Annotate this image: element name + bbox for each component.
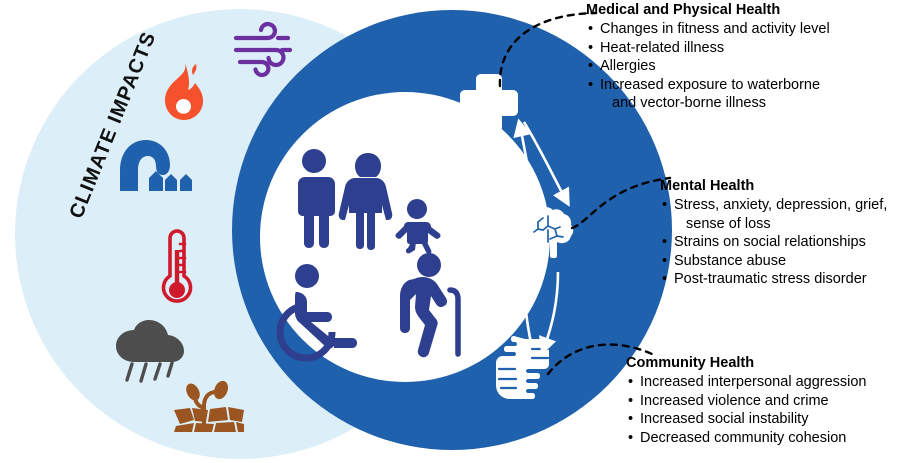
bullet-list: Stress, anxiety, depression, grief, sens…: [660, 196, 920, 289]
bullet-item-continuation: and vector-borne illness: [586, 94, 916, 113]
wind-icon: [232, 26, 294, 74]
leader-line-medical: [484, 2, 602, 88]
child-icon: [396, 198, 442, 254]
block-title: Community Health: [626, 355, 920, 372]
adult-woman-icon: [340, 152, 396, 250]
bullet-item-continuation: sense of loss: [660, 215, 920, 234]
wheelchair-user-icon: [270, 262, 366, 354]
block-title: Mental Health: [660, 178, 920, 195]
bullet-item: Increased exposure to waterborne: [586, 76, 916, 95]
block-mental-health: Mental Health Stress, anxiety, depressio…: [660, 178, 920, 289]
block-title: Medical and Physical Health: [586, 2, 916, 19]
bullet-item: Strains on social relationships: [660, 233, 920, 252]
bullet-item: Increased social instability: [626, 410, 920, 429]
bullet-item: Decreased community cohesion: [626, 429, 920, 448]
block-community-health: Community Health Increased interpersonal…: [626, 355, 920, 447]
bullet-item: Allergies: [586, 57, 916, 76]
bullet-list: Changes in fitness and activity level He…: [586, 20, 916, 113]
bullet-item: Post-traumatic stress disorder: [660, 270, 920, 289]
bullet-item: Substance abuse: [660, 252, 920, 271]
wildfire-icon: [160, 62, 206, 122]
bullet-list: Increased interpersonal aggression Incre…: [626, 373, 920, 447]
bullet-item: Heat-related illness: [586, 39, 916, 58]
flood-wave-icon: [116, 136, 196, 196]
bullet-item: Changes in fitness and activity level: [586, 20, 916, 39]
adult-man-icon: [288, 148, 340, 248]
drought-cracked-earth-icon: [168, 372, 248, 434]
bullet-item: Increased interpersonal aggression: [626, 373, 920, 392]
elderly-person-cane-icon: [392, 252, 466, 358]
bullet-item: Increased violence and crime: [626, 392, 920, 411]
block-medical-and-physical-health: Medical and Physical Health Changes in f…: [586, 2, 916, 113]
infographic-canvas: CLIMATE IMPACTS: [0, 0, 920, 463]
thermometer-icon: [158, 228, 196, 310]
bullet-item: Stress, anxiety, depression, grief,: [660, 196, 920, 215]
